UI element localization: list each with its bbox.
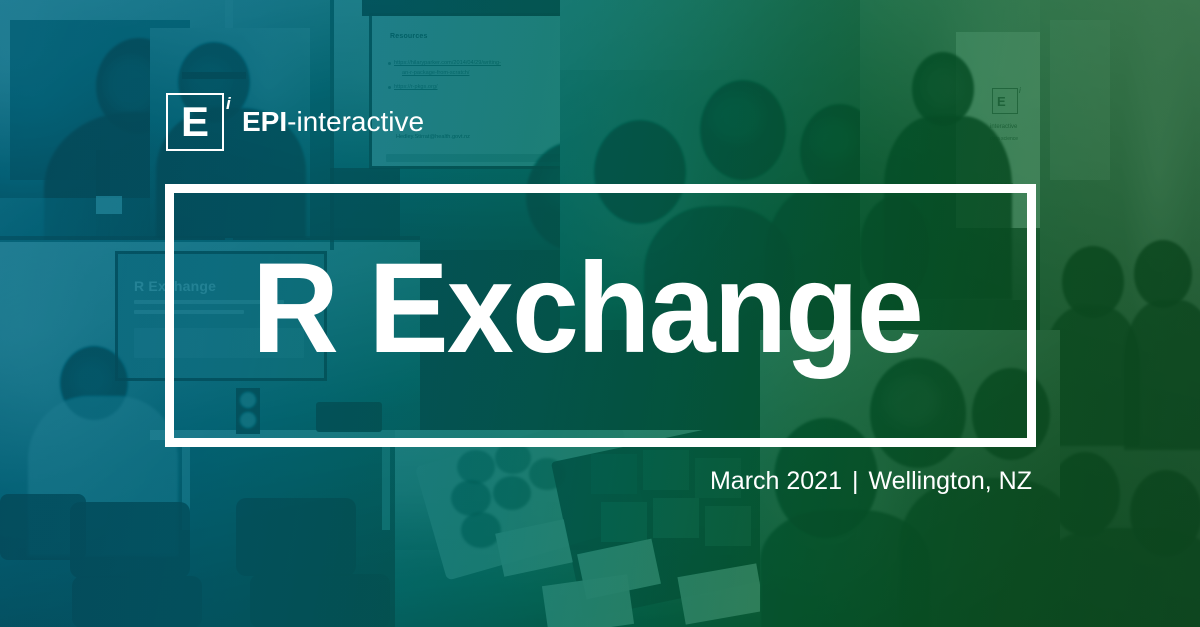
meta-separator: |: [842, 467, 869, 495]
brand-name-bold: EPI: [242, 106, 287, 137]
event-date: March 2021: [710, 467, 842, 495]
epi-interactive-logo[interactable]: E i EPI-interactive: [166, 93, 366, 155]
event-location: Wellington, NZ: [869, 467, 1033, 495]
logo-superscript-i: i: [226, 95, 231, 112]
event-meta: March 2021|Wellington, NZ: [710, 467, 1032, 495]
page-title: R Exchange: [252, 245, 922, 373]
logo-letter-e: E: [166, 93, 224, 151]
poster-canvas: Resources https://hilaryparker.com/2014/…: [0, 0, 1200, 627]
brand-name-light: -interactive: [287, 106, 424, 137]
brand-wordmark: EPI-interactive: [242, 107, 424, 137]
